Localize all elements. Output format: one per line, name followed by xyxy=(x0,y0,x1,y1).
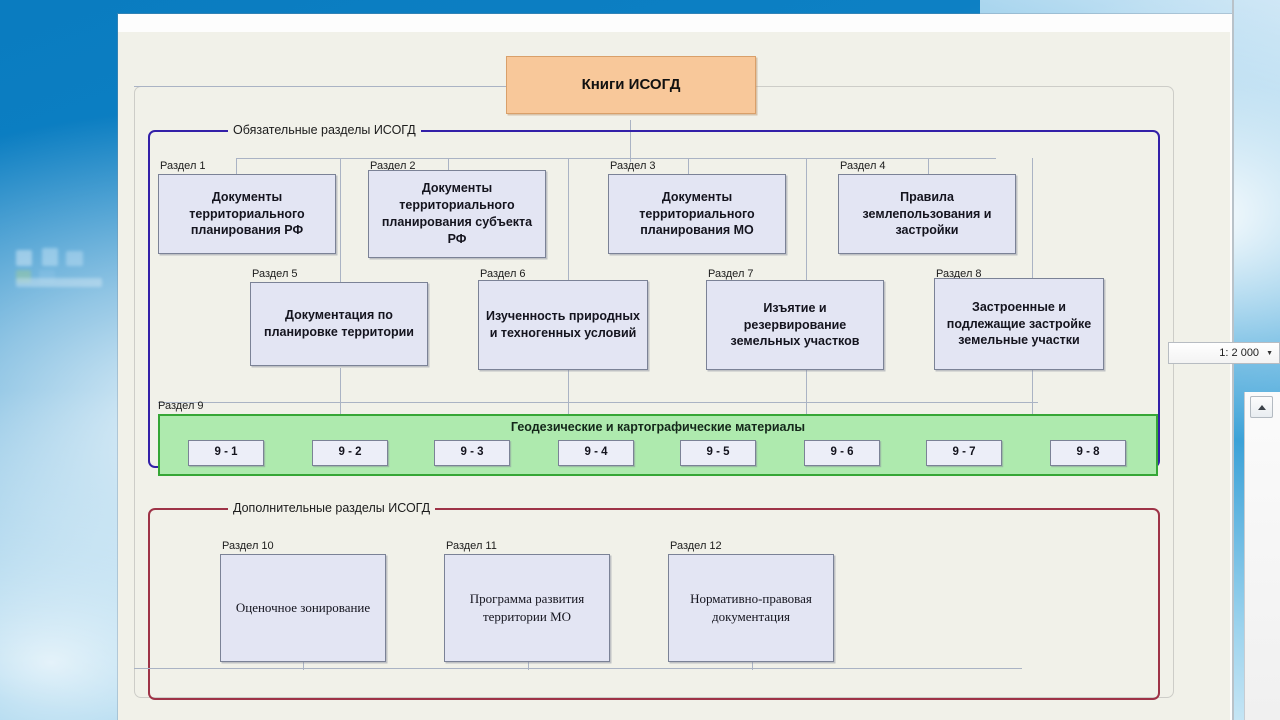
bus-additional-bottom xyxy=(134,668,1022,669)
bus-row1 xyxy=(236,158,996,159)
caption-section-10: Раздел 10 xyxy=(222,540,274,552)
riser-row9-c3 xyxy=(806,368,807,414)
node-9-4-label: 9 - 4 xyxy=(584,445,607,461)
riser-row2-c1 xyxy=(340,158,341,298)
section-9-title: Геодезические и картографические материа… xyxy=(160,420,1156,434)
node-section-12-label: Нормативно-правовая документация xyxy=(674,590,828,625)
riser-row9-c2 xyxy=(568,368,569,414)
node-9-4[interactable]: 9 - 4 xyxy=(558,440,634,466)
node-9-5[interactable]: 9 - 5 xyxy=(680,440,756,466)
node-9-7[interactable]: 9 - 7 xyxy=(926,440,1002,466)
node-section-3[interactable]: Документы территориального планирования … xyxy=(608,174,786,254)
riser-row9-c1 xyxy=(340,368,341,414)
node-9-8[interactable]: 9 - 8 xyxy=(1050,440,1126,466)
node-section-1-label: Документы территориального планирования … xyxy=(164,189,330,240)
node-section-4[interactable]: Правила землепользования и застройки xyxy=(838,174,1016,254)
caption-section-9: Раздел 9 xyxy=(158,400,204,412)
node-section-7[interactable]: Изъятие и резервирование земельных участ… xyxy=(706,280,884,370)
scroll-up-triangle xyxy=(1258,405,1266,410)
riser-row2-c3 xyxy=(806,158,807,298)
vertical-scrollbar[interactable] xyxy=(1244,392,1280,720)
node-9-1[interactable]: 9 - 1 xyxy=(188,440,264,466)
caption-section-11: Раздел 11 xyxy=(446,540,497,552)
node-section-6[interactable]: Изученность природных и техногенных усло… xyxy=(478,280,648,370)
riser-row9-c4 xyxy=(1032,368,1033,414)
node-9-8-label: 9 - 8 xyxy=(1076,445,1099,461)
riser-row2-c4 xyxy=(1032,158,1033,298)
node-section-10[interactable]: Оценочное зонирование xyxy=(220,554,386,662)
node-section-3-label: Документы территориального планирования … xyxy=(614,189,780,240)
node-section-8-label: Застроенные и подлежащие застройке земел… xyxy=(940,299,1098,350)
desktop-icon-2 xyxy=(42,248,58,266)
node-section-8[interactable]: Застроенные и подлежащие застройке земел… xyxy=(934,278,1104,370)
desktop-icons-group xyxy=(12,248,112,294)
node-section-2-label: Документы территориального планирования … xyxy=(374,180,540,248)
node-section-11[interactable]: Программа развития территории МО xyxy=(444,554,610,662)
isogd-structure-diagram: Книги ИСОГД Обязательные разделы ИСОГД Р… xyxy=(118,32,1230,720)
node-9-6-label: 9 - 6 xyxy=(830,445,853,461)
node-9-2[interactable]: 9 - 2 xyxy=(312,440,388,466)
node-9-1-label: 9 - 1 xyxy=(214,445,237,461)
node-section-1[interactable]: Документы территориального планирования … xyxy=(158,174,336,254)
node-9-3[interactable]: 9 - 3 xyxy=(434,440,510,466)
caption-section-3: Раздел 3 xyxy=(610,160,656,172)
root-node-label: Книги ИСОГД xyxy=(582,75,681,95)
desktop-icon-3 xyxy=(66,251,83,266)
map-scale-selector[interactable]: 1: 2 000 ▼ xyxy=(1168,342,1280,364)
node-9-3-label: 9 - 3 xyxy=(460,445,483,461)
node-section-7-label: Изъятие и резервирование земельных участ… xyxy=(712,300,878,351)
diagram-canvas: Книги ИСОГД Обязательные разделы ИСОГД Р… xyxy=(118,32,1230,720)
riser-row2-c2 xyxy=(568,158,569,298)
chevron-down-icon[interactable]: ▼ xyxy=(1266,350,1273,357)
desktop-icon-label xyxy=(16,278,102,287)
node-section-11-label: Программа развития территории МО xyxy=(450,590,604,625)
node-section-10-label: Оценочное зонирование xyxy=(236,599,370,617)
node-9-2-label: 9 - 2 xyxy=(338,445,361,461)
bus-row9 xyxy=(158,402,1038,403)
caption-section-6: Раздел 6 xyxy=(480,268,526,280)
map-scale-value: 1: 2 000 xyxy=(1219,347,1259,359)
node-section-6-label: Изученность природных и техногенных усло… xyxy=(484,308,642,342)
caption-section-7: Раздел 7 xyxy=(708,268,754,280)
group-mandatory-title: Обязательные разделы ИСОГД xyxy=(228,123,421,137)
node-9-6[interactable]: 9 - 6 xyxy=(804,440,880,466)
node-section-5[interactable]: Документация по планировке территории xyxy=(250,282,428,366)
group-additional-title: Дополнительные разделы ИСОГД xyxy=(228,501,435,515)
node-section-2[interactable]: Документы территориального планирования … xyxy=(368,170,546,258)
node-9-5-label: 9 - 5 xyxy=(706,445,729,461)
desktop-icon-1 xyxy=(16,250,32,266)
caption-section-1: Раздел 1 xyxy=(160,160,206,172)
caption-section-5: Раздел 5 xyxy=(252,268,298,280)
caption-section-12: Раздел 12 xyxy=(670,540,722,552)
node-section-4-label: Правила землепользования и застройки xyxy=(844,189,1010,240)
caption-section-4: Раздел 4 xyxy=(840,160,886,172)
scroll-up-icon[interactable] xyxy=(1250,396,1273,418)
node-section-12[interactable]: Нормативно-правовая документация xyxy=(668,554,834,662)
root-node-knigi-isogd[interactable]: Книги ИСОГД xyxy=(506,56,756,114)
section-9-band: Геодезические и картографические материа… xyxy=(158,414,1158,476)
node-section-5-label: Документация по планировке территории xyxy=(256,307,422,341)
node-9-7-label: 9 - 7 xyxy=(952,445,975,461)
